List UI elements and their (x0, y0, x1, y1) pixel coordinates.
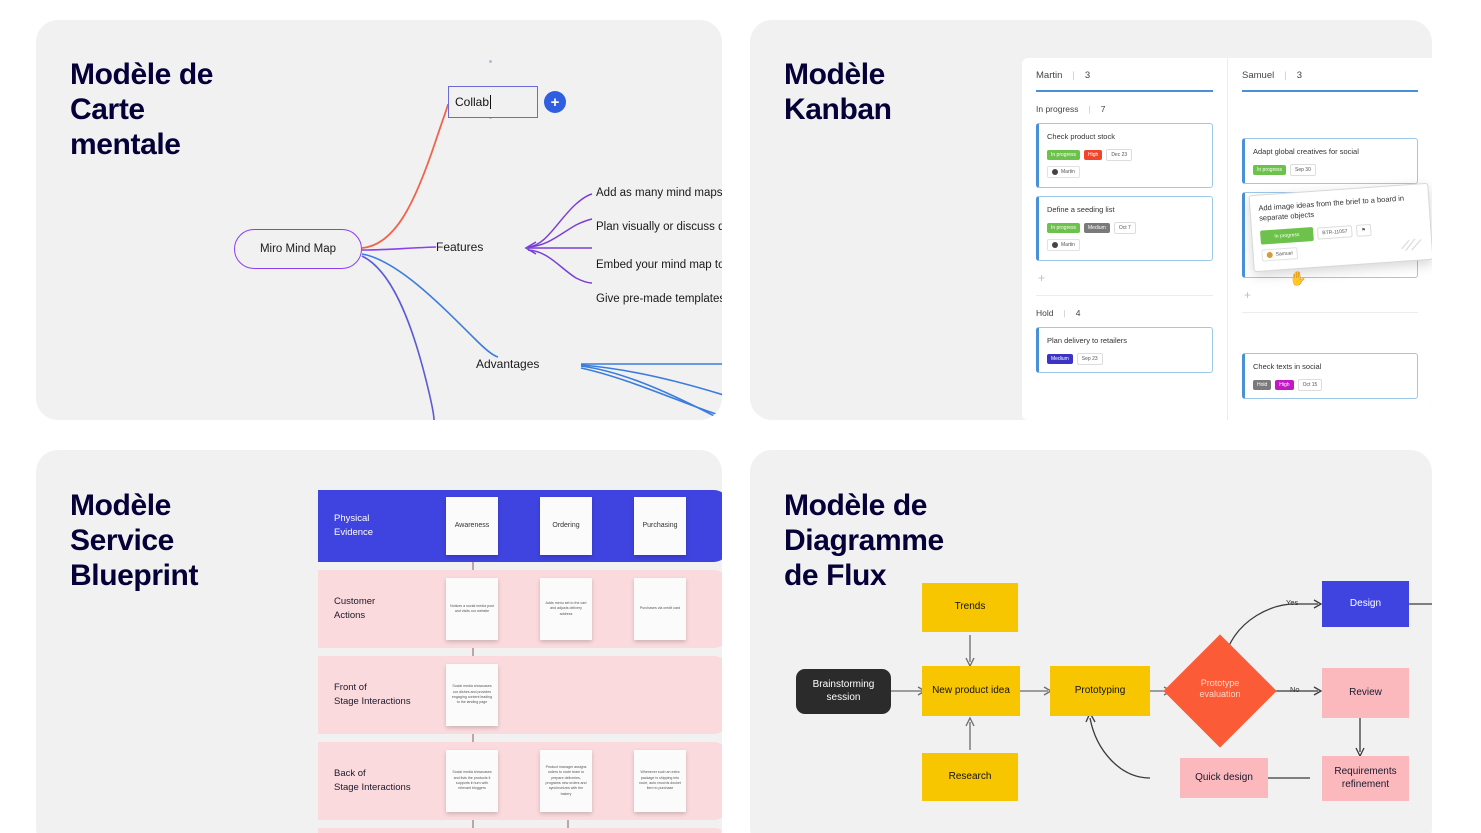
flow-node-trends[interactable]: Trends (922, 583, 1018, 632)
blueprint-note[interactable]: Social media showcases and lists the pro… (446, 750, 498, 812)
blueprint-note[interactable]: Notices a social media post and visits o… (446, 578, 498, 640)
kanban-card-title: Check product stock (1047, 132, 1204, 142)
kanban-card[interactable]: Check texts in social Hold High Oct 15 (1242, 353, 1418, 399)
priority-badge: Medium (1047, 354, 1073, 364)
text-caret (490, 95, 491, 109)
kanban-column-rule (1036, 90, 1213, 92)
flag-icon: ⚑ (1356, 224, 1371, 237)
flow-node-research[interactable]: Research (922, 753, 1018, 801)
blueprint-row-label: Front of Stage Interactions (334, 681, 411, 709)
mind-map-branch-advantages[interactable]: Advantages (476, 357, 539, 371)
due-date-badge: Oct 15 (1298, 379, 1323, 391)
mind-map-root-label: Miro Mind Map (260, 243, 336, 255)
mind-map-handle-dot-top[interactable] (489, 60, 492, 63)
kanban-section-header-in-progress: In progress | 7 (1036, 104, 1213, 114)
kanban-card-badges: Medium Sep 23 (1047, 353, 1204, 365)
grabbing-hand-cursor: ✋ (1289, 271, 1306, 285)
kanban-column-martin[interactable]: Martin | 3 In progress | 7 Check product… (1022, 58, 1227, 420)
panel-service-blueprint[interactable]: Modèle Service Blueprint Physical Eviden… (36, 450, 722, 833)
separator: | (1063, 308, 1065, 318)
flow-node-new-product-idea[interactable]: New product idea (922, 666, 1020, 716)
flow-node-quick-design[interactable]: Quick design (1180, 758, 1268, 798)
priority-badge: Medium (1084, 223, 1110, 233)
due-date-badge: Sep 30 (1290, 164, 1316, 176)
flow-node-design[interactable]: Design (1322, 581, 1409, 627)
status-badge: In progress (1047, 150, 1080, 160)
blueprint-row-customer-actions: Customer Actions Notices a social media … (318, 570, 722, 648)
kanban-card-badges: In progress Medium Oct 7 (1047, 222, 1204, 234)
scribble-icon (1399, 236, 1424, 254)
kanban-card-badges: In progress High Dec 23 (1047, 149, 1204, 161)
mind-map-branch-features[interactable]: Features (436, 240, 483, 254)
blueprint-note[interactable]: Social media showcases our dishes and pr… (446, 664, 498, 726)
templates-grid: Modèle de Carte mentale (0, 0, 1481, 833)
status-badge: In progress (1253, 165, 1286, 175)
kanban-column-samuel[interactable]: Samuel | 3 Adapt global creatives for so… (1227, 58, 1432, 420)
kanban-section-header-hold: Hold | 4 (1036, 308, 1213, 318)
due-date-badge: Oct 7 (1114, 222, 1136, 234)
kanban-card-assignee: Martin (1047, 239, 1080, 251)
blueprint-row-back-of-stage: Back of Stage Interactions Social media … (318, 742, 722, 820)
assignee-name: Samuel (1276, 251, 1293, 258)
mind-map-leaf-3[interactable]: Give pre-made templates a try (596, 293, 722, 305)
kanban-card-dragging[interactable]: Add image ideas from the brief to a boar… (1249, 183, 1432, 273)
assignee-name: Martin (1061, 242, 1075, 248)
kanban-owner-name: Samuel (1242, 70, 1274, 81)
kanban-title: Modèle Kanban (784, 58, 892, 128)
blueprint-row-support-processes: Social media receives available for prom… (318, 828, 722, 833)
kanban-column-header: Samuel | 3 (1242, 70, 1418, 90)
spacer (1242, 325, 1418, 353)
kanban-section-name: In progress (1036, 104, 1079, 114)
mind-map-leaf-1[interactable]: Plan visually or discuss designs (596, 221, 722, 233)
priority-badge: High (1084, 150, 1102, 160)
due-date-badge: Sep 23 (1077, 353, 1103, 365)
kanban-card-badges: Hold High Oct 15 (1253, 379, 1409, 391)
kanban-section-count: 4 (1076, 308, 1081, 318)
kanban-card[interactable]: Adapt global creatives for social In pro… (1242, 138, 1418, 184)
assignee-name: Martin (1061, 169, 1075, 175)
flow-node-brainstorming[interactable]: Brainstorming session (796, 669, 891, 714)
kanban-section-name: Hold (1036, 308, 1053, 318)
kanban-add-card-button[interactable]: + (1242, 286, 1418, 312)
kanban-card-assignee: Martin (1047, 166, 1080, 178)
blueprint-title: Modèle Service Blueprint (70, 489, 198, 593)
spacer (1242, 104, 1418, 138)
mind-map-node-input[interactable]: Collab (448, 86, 538, 118)
mind-map-canvas[interactable]: Miro Mind Map Collab + Features Advantag… (36, 20, 722, 420)
blueprint-row-label: Physical Evidence (334, 512, 373, 540)
flow-edge-label-yes: Yes (1286, 598, 1298, 607)
mind-map-leaf-2[interactable]: Embed your mind map to exter (596, 259, 722, 271)
flow-node-review[interactable]: Review (1322, 668, 1409, 718)
divider (1242, 312, 1418, 313)
kanban-drop-placeholder: Add image ideas from the brief to a boar… (1242, 192, 1418, 278)
mind-map-node-input-value: Collab (455, 95, 489, 109)
blueprint-note[interactable]: Purchasing (634, 497, 686, 555)
divider (1036, 295, 1213, 296)
flow-node-prototyping[interactable]: Prototyping (1050, 666, 1150, 716)
kanban-column-rule (1242, 90, 1418, 92)
blueprint-note[interactable]: Adds menu set to the cart and adjusts de… (540, 578, 592, 640)
flowchart-canvas[interactable]: Brainstorming session Trends New product… (750, 450, 1432, 833)
blueprint-note[interactable]: Ordering (540, 497, 592, 555)
blueprint-note[interactable]: Awareness (446, 497, 498, 555)
plus-icon: + (551, 95, 560, 110)
blueprint-canvas[interactable]: Physical Evidence Awareness Ordering Pur… (318, 490, 722, 833)
kanban-card[interactable]: Check product stock In progress High Dec… (1036, 123, 1213, 188)
flow-node-prototype-evaluation-label: Prototype evaluation (1165, 678, 1275, 701)
flow-edge-label-no: No (1290, 685, 1300, 694)
kanban-card-title: Check texts in social (1253, 362, 1409, 372)
kanban-card-title: Plan delivery to retailers (1047, 336, 1204, 346)
mind-map-edges (36, 20, 722, 420)
status-badge: In progress (1260, 227, 1314, 245)
panel-flowchart[interactable]: Modèle de Diagramme de Flux (750, 450, 1432, 833)
due-date-badge: Dec 23 (1106, 149, 1132, 161)
kanban-owner-name: Martin (1036, 70, 1062, 81)
kanban-card[interactable]: Define a seeding list In progress Medium… (1036, 196, 1213, 261)
panel-kanban[interactable]: Modèle Kanban Martin | 3 In progress | 7… (750, 20, 1432, 420)
kanban-board[interactable]: Martin | 3 In progress | 7 Check product… (1022, 58, 1432, 420)
flow-node-requirements-refinement[interactable]: Requirements refinement (1322, 756, 1409, 801)
kanban-add-card-button[interactable]: + (1036, 269, 1213, 295)
avatar (1267, 252, 1273, 258)
blueprint-note[interactable]: Purchases via credit card (634, 578, 686, 640)
kanban-owner-count: 3 (1085, 70, 1090, 81)
status-badge: In progress (1047, 223, 1080, 233)
priority-badge: High (1275, 380, 1293, 390)
status-badge: Hold (1253, 380, 1271, 390)
blueprint-row-label: Back of Stage Interactions (334, 767, 411, 795)
blueprint-note[interactable]: Product manager assigns orders to route … (540, 750, 592, 812)
kanban-card-title: Add image ideas from the brief to a boar… (1258, 193, 1421, 225)
kanban-card-assignee: Samuel (1261, 247, 1298, 261)
add-node-button[interactable]: + (544, 91, 566, 113)
blueprint-row-front-of-stage: Front of Stage Interactions Social media… (318, 656, 722, 734)
ticket-id-badge: BTR-11057 (1317, 226, 1353, 240)
kanban-section-count: 7 (1101, 104, 1106, 114)
separator: | (1072, 70, 1074, 81)
blueprint-note[interactable]: Whenever such an extra package is shippi… (634, 750, 686, 812)
avatar (1052, 242, 1058, 248)
panel-mind-map[interactable]: Modèle de Carte mentale (36, 20, 722, 420)
mind-map-leaf-0[interactable]: Add as many mind maps as you (596, 187, 722, 199)
blueprint-row-physical-evidence: Physical Evidence Awareness Ordering Pur… (318, 490, 722, 562)
kanban-column-header: Martin | 3 (1036, 70, 1213, 90)
separator: | (1089, 104, 1091, 114)
mind-map-root-node[interactable]: Miro Mind Map (234, 229, 362, 269)
kanban-card-badges: In progress Sep 30 (1253, 164, 1409, 176)
blueprint-row-label: Customer Actions (334, 595, 375, 623)
kanban-owner-count: 3 (1297, 70, 1302, 81)
kanban-card[interactable]: Plan delivery to retailers Medium Sep 23 (1036, 327, 1213, 373)
kanban-card-title: Adapt global creatives for social (1253, 147, 1409, 157)
kanban-card-title: Define a seeding list (1047, 205, 1204, 215)
avatar (1052, 169, 1058, 175)
separator: | (1284, 70, 1286, 81)
